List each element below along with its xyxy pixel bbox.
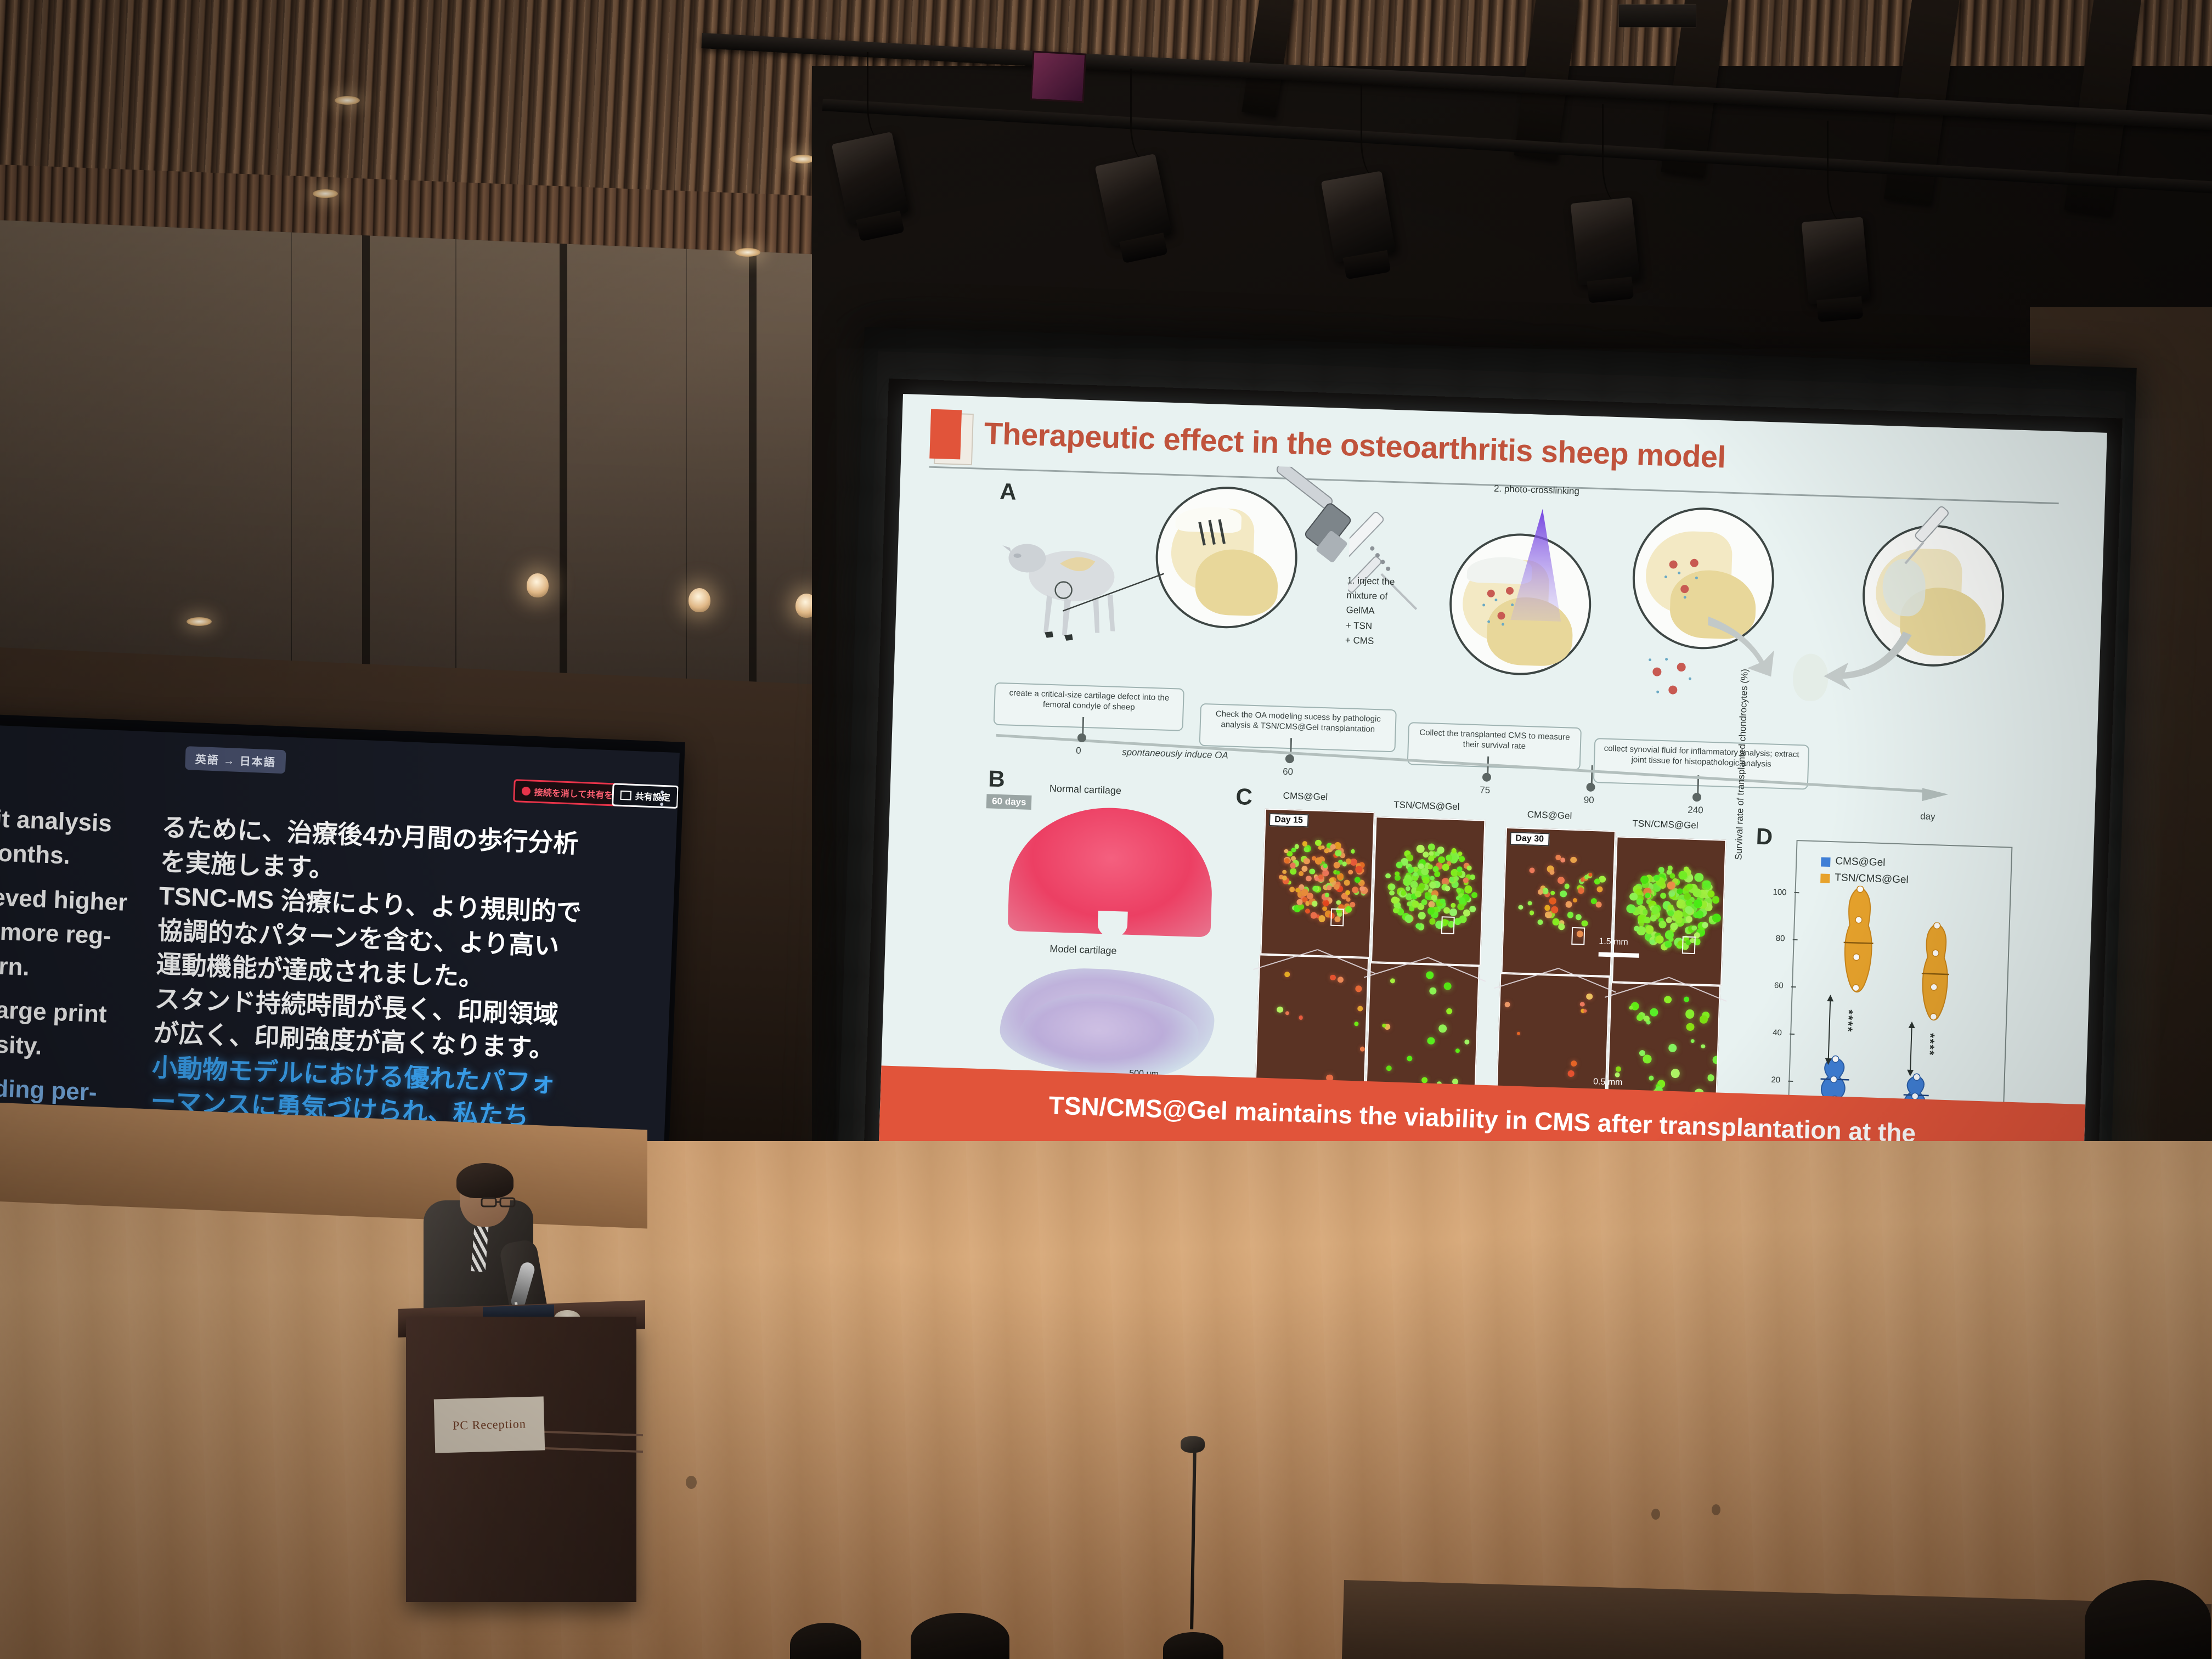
rigging-cable (1130, 69, 1170, 162)
rigging-cable (1827, 121, 1867, 222)
cell-signal-dot (1464, 885, 1472, 894)
cell-signal-dot (1707, 1074, 1714, 1081)
cell-signal-dot (1471, 892, 1478, 899)
panel-c-scalebar-top-label: 1.5 mm (1599, 936, 1628, 947)
cell-signal-dot (1677, 888, 1683, 894)
cell-signal-dot (1586, 993, 1593, 1000)
cell-signal-dot (1518, 905, 1523, 910)
cell-signal-dot (1685, 916, 1692, 923)
stage-floor-grain (0, 1141, 2212, 1659)
floor-marker (686, 1476, 697, 1489)
extracted-cells-cluster (1644, 654, 1711, 706)
cell-signal-dot (1318, 845, 1322, 850)
cell-signal-dot (1391, 896, 1399, 904)
cell-signal-dot (1615, 1072, 1620, 1077)
cell-signal-dot (1330, 974, 1336, 980)
stage-spotlight (1570, 198, 1640, 286)
roi-box (1571, 927, 1585, 945)
panel-a-caption-1: create a critical-size cartilage defect … (994, 682, 1184, 731)
y-tick-100: 100 (1773, 888, 1787, 898)
cell-signal-dot (1686, 883, 1692, 889)
cell-signal-dot (1582, 921, 1588, 927)
cell-signal-dot (1407, 1056, 1413, 1062)
cell-signal-dot (1305, 909, 1310, 913)
cell-signal-dot (1428, 843, 1435, 850)
legend-swatch-cms (1821, 857, 1831, 867)
cell-signal-dot (1580, 1002, 1584, 1006)
cell-signal-dot (1459, 856, 1465, 862)
cell-signal-dot (1707, 890, 1714, 898)
panel-c-day30-badge: Day 30 (1510, 832, 1549, 846)
caption-line: and large print (0, 991, 148, 1034)
cell-signal-dot (1301, 866, 1307, 872)
cell-signal-dot (1290, 863, 1296, 868)
timeline-tick-0: 0 (1076, 746, 1081, 757)
monitor-icon (620, 790, 631, 800)
cell-signal-dot (1560, 890, 1567, 898)
cell-signal-dot (1315, 857, 1322, 864)
cell-signal-dot (1418, 912, 1425, 919)
cell-signal-dot (1282, 876, 1287, 881)
microscopy-tile (1612, 836, 1726, 985)
presentation-slide: Therapeutic effect in the osteoarthritis… (878, 394, 2107, 1222)
normal-cartilage-label: Normal cartilage (1049, 783, 1122, 797)
cell-signal-dot (1616, 1066, 1622, 1073)
cell-signal-dot (1637, 1014, 1643, 1020)
rigging-cable (1361, 85, 1401, 178)
cell-signal-dot (1277, 1006, 1283, 1013)
cell-signal-dot (1404, 915, 1413, 923)
cell-signal-dot (1644, 917, 1651, 924)
podium-sign: PC Reception (434, 1396, 545, 1453)
ceiling-downlight (313, 189, 338, 198)
cell-signal-dot (1564, 884, 1570, 889)
cell-signal-dot (1667, 910, 1674, 916)
cell-signal-dot (1309, 868, 1315, 874)
timeline-tick-240: 240 (1688, 805, 1703, 816)
cell-signal-dot (1560, 857, 1565, 862)
cell-signal-dot (1354, 1022, 1358, 1026)
y-tick-60: 60 (1774, 981, 1784, 991)
cell-signal-dot (1357, 1006, 1363, 1012)
inject-annotation: 1. inject the mixture of GelMA + TSN + C… (1345, 573, 1395, 649)
cell-signal-dot (1504, 1002, 1510, 1008)
cell-signal-dot (1289, 887, 1295, 893)
cell-signal-dot (1442, 864, 1449, 871)
timeline-tick-dot (1285, 754, 1295, 764)
cell-signal-dot (1351, 849, 1355, 854)
cell-signal-dot (1323, 864, 1327, 868)
cell-signal-dot (1318, 874, 1323, 879)
cell-signal-dot (1565, 901, 1572, 908)
cell-signal-dot (1302, 841, 1307, 846)
cell-signal-dot (1637, 899, 1643, 905)
cell-signal-dot (1355, 985, 1362, 992)
cell-signal-dot (1700, 1015, 1708, 1024)
cell-signal-dot (1463, 909, 1470, 916)
cell-signal-dot (1283, 870, 1287, 874)
cell-signal-dot (1572, 898, 1577, 903)
roi-box (1682, 936, 1696, 954)
cell-signal-dot (1443, 907, 1449, 913)
cell-signal-dot (1670, 922, 1678, 930)
audience-head (2085, 1580, 2211, 1659)
cell-signal-dot (1701, 1044, 1705, 1048)
cell-signal-dot (1575, 914, 1582, 921)
cell-signal-dot (1290, 868, 1296, 874)
cell-signal-dot (1558, 923, 1565, 930)
cell-signal-dot (1428, 864, 1433, 869)
cell-signal-dot (1649, 939, 1655, 945)
cell-signal-dot (1449, 909, 1457, 916)
cell-signal-dot (1431, 894, 1437, 900)
book-icon (929, 409, 974, 464)
caption-line: a gait analysis (0, 800, 156, 843)
timeline-tick-75: 75 (1480, 785, 1491, 796)
roi-connector-line (1362, 953, 1488, 984)
significance-stars-day15: **** (1841, 1009, 1855, 1033)
cell-signal-dot (1555, 855, 1561, 860)
cell-signal-dot (1673, 910, 1683, 919)
panel-c-day15-badge: Day 15 (1269, 813, 1308, 827)
cell-signal-dot (1588, 872, 1592, 876)
microscopy-tile-zoom (1255, 954, 1369, 1093)
cell-signal-dot (1299, 871, 1304, 876)
cell-signal-dot (1668, 890, 1675, 897)
return-arrow (1815, 627, 1916, 696)
caption-line: achieved higher (0, 879, 153, 922)
y-tick-20: 20 (1771, 1075, 1780, 1085)
cell-signal-dot (1396, 861, 1403, 868)
cell-signal-dot (1335, 871, 1340, 875)
color-gel-frame (1030, 50, 1087, 103)
cell-signal-dot (1712, 913, 1720, 922)
legend-label-tsn: TSN/CMS@Gel (1835, 872, 1909, 886)
ceiling-downlight (335, 96, 360, 105)
cell-signal-dot (1470, 874, 1476, 881)
cell-signal-dot (1330, 844, 1336, 850)
cell-signal-dot (1419, 883, 1425, 889)
timeline-tick-60: 60 (1283, 766, 1294, 778)
cell-signal-dot (1549, 897, 1556, 904)
violin-tsn-day15 (1838, 885, 1880, 996)
significance-arrow-day30 (1903, 1022, 1919, 1077)
cell-signal-dot (1429, 918, 1436, 925)
model-cartilage-label: Model cartilage (1049, 943, 1117, 957)
cell-signal-dot (1310, 912, 1317, 918)
cell-signal-dot (1325, 893, 1329, 897)
podium (406, 1317, 636, 1602)
cell-signal-dot (1530, 911, 1534, 916)
language-direction-pill[interactable]: 英語 → 日本語 (185, 746, 286, 774)
share-settings-label: 共有設定 (635, 789, 670, 804)
cell-signal-dot (1421, 1077, 1428, 1084)
significance-arrow-day15 (1821, 995, 1837, 1065)
cell-signal-dot (1671, 1069, 1680, 1078)
cell-signal-dot (1438, 856, 1445, 864)
cell-signal-dot (1412, 900, 1419, 907)
cell-signal-dot (1649, 1075, 1654, 1080)
cell-signal-dot (1691, 1039, 1695, 1043)
panel-c-column-header-3: CMS@Gel (1527, 809, 1572, 822)
cell-signal-dot (1597, 886, 1603, 892)
panel-a-letter: A (1000, 478, 1017, 505)
timeline-tick-dot (1586, 783, 1595, 792)
cell-signal-dot (1329, 878, 1334, 883)
cell-signal-dot (1318, 915, 1325, 922)
panel-d-letter: D (1756, 823, 1773, 850)
cell-signal-dot (1712, 896, 1720, 904)
cell-signal-dot (1437, 847, 1444, 854)
cell-signal-dot (1323, 900, 1329, 906)
cell-signal-dot (1650, 1008, 1658, 1017)
panel-a-caption-3: Collect the transplanted CMS to measure … (1407, 722, 1582, 770)
ceiling-downlight (187, 617, 212, 626)
cell-signal-dot (1702, 880, 1711, 889)
cell-signal-dot (1571, 1060, 1577, 1066)
cell-signal-dot (1454, 918, 1462, 926)
cell-signal-dot (1558, 877, 1565, 884)
crosslink-annotation: 2. photo-crosslinking (1494, 483, 1579, 497)
y-tick-80: 80 (1776, 934, 1785, 944)
cell-signal-dot (1427, 1037, 1435, 1045)
timeline-tick-90: 90 (1583, 794, 1594, 806)
cell-signal-dot (1407, 901, 1412, 906)
cell-signal-dot (1443, 982, 1452, 990)
panel-c-column-header-4: TSN/CMS@Gel (1632, 818, 1699, 831)
rigging-cable (1602, 104, 1642, 203)
cell-signal-dot (1449, 877, 1454, 882)
share-settings-button[interactable]: 共有設定 (612, 783, 679, 809)
cell-signal-dot (1464, 1040, 1470, 1045)
timeline-arrowhead (1922, 785, 1955, 808)
significance-stars-day30: **** (1922, 1033, 1937, 1057)
cell-signal-dot (1382, 1023, 1386, 1028)
cell-signal-dot (1634, 926, 1640, 932)
cell-signal-dot (1444, 886, 1450, 891)
microscopy-tile-zoom (1365, 962, 1480, 1102)
cell-signal-dot (1696, 910, 1704, 918)
cell-signal-dot (1660, 893, 1666, 899)
roi-box (1330, 908, 1344, 926)
panel-c-scalebar-bottom-label: 0.5 mm (1593, 1077, 1623, 1088)
cell-signal-dot (1645, 925, 1654, 934)
cell-signal-dot (1428, 855, 1435, 862)
wall-sconce-light (689, 588, 710, 612)
cell-signal-dot (1463, 877, 1468, 883)
microscopy-tile (1371, 816, 1485, 966)
slide-title: Therapeutic effect in the osteoarthritis… (984, 415, 1726, 475)
panel-a-caption-2: Check the OA modeling sucess by patholog… (1199, 703, 1397, 753)
cell-signal-dot (1344, 879, 1350, 885)
stage-spotlight (1802, 217, 1870, 304)
cell-signal-dot (1337, 977, 1344, 983)
floor-marker (1712, 1504, 1720, 1515)
cell-signal-dot (1291, 848, 1296, 853)
panel-c-column-header-1: CMS@Gel (1283, 791, 1328, 803)
cell-signal-dot (1389, 890, 1395, 896)
cell-signal-dot (1345, 890, 1351, 895)
cell-signal-dot (1284, 858, 1289, 864)
cell-signal-dot (1359, 1046, 1365, 1052)
cell-signal-dot (1685, 1009, 1695, 1019)
cell-signal-dot (1686, 1023, 1695, 1031)
cell-signal-dot (1702, 922, 1708, 928)
ceiling-fixture-box (1618, 4, 1696, 27)
cell-signal-dot (1643, 909, 1648, 915)
cell-signal-dot (1544, 905, 1550, 911)
cell-signal-dot (1668, 865, 1673, 871)
cell-signal-dot (1528, 901, 1532, 905)
cell-signal-dot (1668, 1044, 1677, 1052)
cell-signal-dot (1567, 1070, 1574, 1077)
cell-signal-dot (1643, 1054, 1652, 1063)
cell-signal-dot (1467, 866, 1472, 871)
cell-signal-dot (1342, 862, 1347, 867)
cell-signal-dot (1451, 903, 1456, 908)
record-dot-icon (522, 787, 531, 796)
cell-signal-dot (1658, 921, 1666, 928)
cell-signal-dot (1583, 1009, 1587, 1013)
panel-b-day-badge: 60 days (986, 794, 1032, 810)
cell-signal-dot (1570, 856, 1577, 863)
microscopy-tile (1260, 809, 1374, 958)
cell-signal-dot (1304, 847, 1310, 852)
violin-tsn-day30 (1915, 922, 1956, 1024)
cell-signal-dot (1550, 891, 1555, 896)
cell-signal-dot (1458, 898, 1465, 905)
ceiling-downlight (735, 248, 760, 257)
legend-swatch-tsn (1820, 873, 1830, 883)
cell-signal-dot (1429, 987, 1436, 994)
roi-connector-line (1492, 964, 1618, 994)
cell-signal-dot (1327, 885, 1331, 890)
cell-signal-dot (1517, 1031, 1521, 1035)
wall-sconce-light (527, 573, 549, 597)
cell-signal-dot (1324, 848, 1329, 853)
cell-signal-dot (1348, 870, 1353, 874)
cell-signal-dot (1299, 1015, 1303, 1019)
uv-light-beam (1488, 505, 1602, 629)
overflow-menu-button[interactable] (660, 791, 664, 806)
cell-signal-dot (1529, 867, 1534, 873)
cell-signal-dot (1355, 866, 1362, 873)
y-tick-40: 40 (1773, 1028, 1782, 1038)
cell-signal-dot (1322, 870, 1329, 877)
timeline-tick-dot (1692, 793, 1702, 802)
cell-signal-dot (1578, 888, 1584, 894)
cell-signal-dot (1312, 901, 1318, 907)
panel-c-letter: C (1235, 783, 1253, 810)
cell-signal-dot (1694, 873, 1703, 882)
rigging-cable (867, 52, 901, 140)
cell-signal-dot (1304, 858, 1310, 865)
cell-signal-dot (1446, 1008, 1452, 1014)
cell-signal-dot (1296, 899, 1302, 905)
cell-signal-dot (1654, 875, 1660, 881)
cell-signal-dot (1538, 889, 1543, 895)
cell-signal-dot (1385, 873, 1391, 879)
cell-signal-dot (1676, 899, 1685, 909)
roi-connector-line (1251, 945, 1378, 975)
cell-signal-dot (1469, 906, 1476, 912)
cell-signal-dot (1438, 1024, 1447, 1032)
cell-signal-dot (1713, 1056, 1720, 1064)
cell-signal-dot (1551, 906, 1558, 913)
speaker-glasses-icon (481, 1195, 519, 1209)
cell-signal-dot (1650, 915, 1657, 922)
speaker-hair (456, 1163, 513, 1198)
timeline-tick-dot (1482, 772, 1492, 782)
cell-signal-dot (1312, 885, 1318, 891)
cell-signal-dot (1594, 878, 1600, 885)
cell-signal-dot (1567, 912, 1574, 918)
roi-connector-line (1602, 973, 1729, 1003)
timeline-stem (1591, 765, 1593, 785)
leader-line (1060, 564, 1166, 628)
cell-signal-dot (1345, 906, 1352, 913)
photo-scene: Therapeutic effect in the osteoarthritis… (0, 0, 2212, 1659)
cell-signal-dot (1651, 906, 1660, 915)
cell-signal-dot (1455, 1048, 1460, 1053)
timeline-unit-label: day (1920, 811, 1936, 822)
cell-signal-dot (1406, 887, 1410, 891)
cell-signal-dot (1395, 871, 1400, 876)
cell-signal-dot (1386, 1065, 1392, 1071)
cell-signal-dot (1434, 871, 1440, 877)
cell-signal-dot (1553, 918, 1560, 926)
panel-c-column-header-2: TSN/CMS@Gel (1393, 799, 1460, 812)
cell-signal-dot (1549, 870, 1554, 874)
roi-box (1441, 916, 1455, 934)
cell-signal-dot (1301, 889, 1308, 896)
panel-b-letter: B (988, 765, 1006, 792)
cell-signal-dot (1666, 917, 1672, 923)
aspiration-syringe-icon (1899, 498, 1990, 583)
cell-signal-dot (1306, 876, 1312, 882)
cell-signal-dot (1421, 899, 1427, 905)
cell-signal-dot (1322, 906, 1327, 911)
cell-signal-dot (1295, 888, 1300, 893)
cell-signal-dot (1389, 884, 1395, 890)
cell-signal-dot (1333, 861, 1340, 868)
floor-marker (1651, 1509, 1660, 1520)
cell-signal-dot (1537, 919, 1543, 925)
cell-signal-dot (1427, 907, 1435, 915)
cell-signal-dot (1285, 1011, 1289, 1015)
legend-label-cms: CMS@Gel (1835, 855, 1886, 869)
